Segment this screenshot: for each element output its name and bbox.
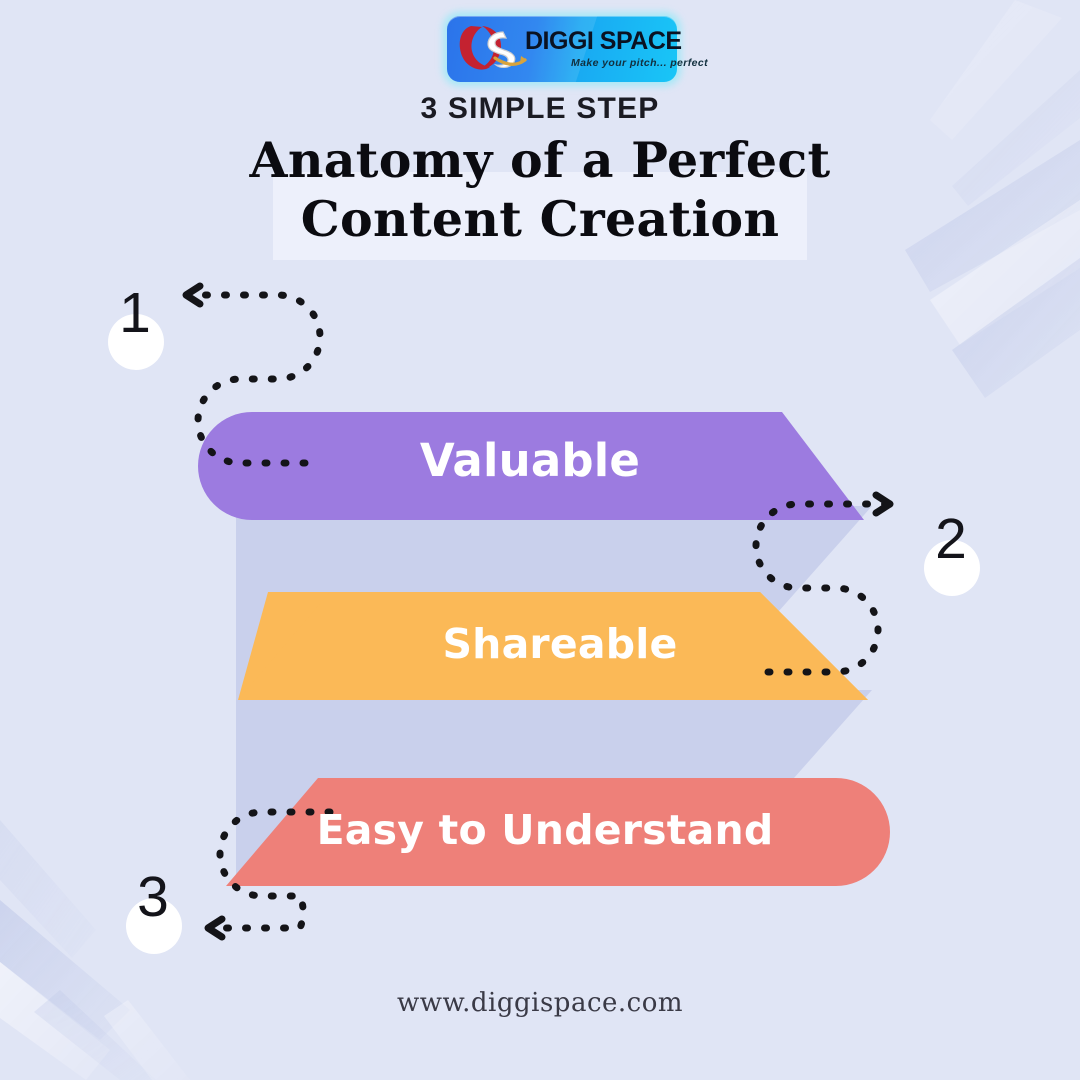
title-line-2: Content Creation (0, 190, 1080, 249)
band-label-valuable: Valuable (200, 434, 860, 487)
kicker-text: 3 SIMPLE STEP (0, 92, 1080, 126)
step-marker-2: 2 (920, 522, 982, 584)
infographic-canvas: DIGGI SPACE Make your pitch... perfect 3… (0, 0, 1080, 1080)
arrow-head-1 (186, 286, 200, 304)
arrow-head-2 (876, 495, 890, 513)
step-number-1: 1 (104, 288, 166, 338)
band-label-shareable: Shareable (230, 620, 890, 668)
step-marker-3: 3 (122, 880, 184, 942)
step-number-3: 3 (122, 872, 184, 922)
title-line-1: Anatomy of a Perfect (0, 131, 1080, 190)
arrow-head-3 (208, 919, 222, 937)
logo-tagline: Make your pitch... perfect (571, 57, 708, 69)
page-title: Anatomy of a Perfect Content Creation (0, 131, 1080, 249)
logo-wordmark: DIGGI SPACE (525, 29, 682, 54)
step-marker-1: 1 (104, 296, 166, 358)
step-number-2: 2 (920, 514, 982, 564)
band-label-easy: Easy to Understand (200, 806, 890, 854)
brand-logo[interactable]: DIGGI SPACE Make your pitch... perfect (447, 16, 677, 82)
diggi-space-monogram-icon (455, 20, 531, 78)
footer-website-url[interactable]: www.diggispace.com (0, 988, 1080, 1018)
